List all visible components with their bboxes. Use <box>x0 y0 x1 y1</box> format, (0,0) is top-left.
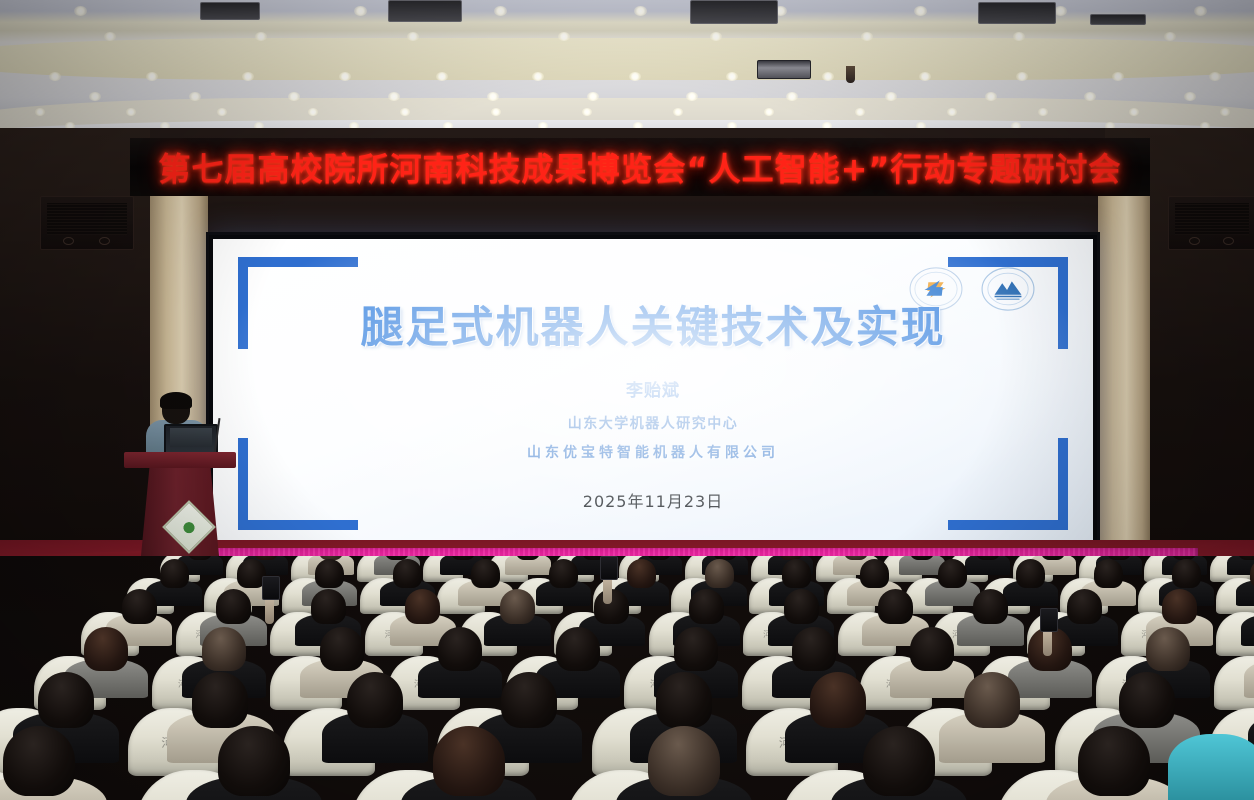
recessed-downlight-icon <box>1112 72 1124 81</box>
audience-member-head <box>705 559 734 588</box>
audience-member-head <box>863 726 935 796</box>
slide-content: 腿足式机器人关键技术及实现 李贻斌 山东大学机器人研究中心 山东优宝特智能机器人… <box>213 305 1093 512</box>
audience-member-head <box>1146 627 1190 671</box>
recessed-downlight-icon <box>1016 72 1028 81</box>
slide-org-primary: 山东大学机器人研究中心 <box>213 413 1093 433</box>
attendee-phone-icon <box>262 576 280 600</box>
recessed-downlight-icon <box>1184 92 1196 101</box>
audience-member-head <box>216 589 251 624</box>
audience-member-head <box>202 627 246 671</box>
audience-member-head <box>405 589 440 624</box>
slide-org-secondary: 山东优宝特智能机器人有限公司 <box>213 442 1093 462</box>
audience-member-head <box>500 589 535 624</box>
audience-member-head <box>784 589 819 624</box>
recessed-downlight-icon <box>673 108 683 116</box>
speaker-knob-a <box>1189 237 1200 245</box>
attendee-arm <box>603 576 612 604</box>
ceiling-vent-b <box>388 0 462 22</box>
recessed-downlight-icon <box>710 32 722 41</box>
recessed-downlight-icon <box>1194 6 1207 16</box>
slide-title: 腿足式机器人关键技术及实现 <box>213 305 1093 352</box>
audience-member-head <box>973 589 1008 624</box>
recessed-downlight-icon <box>35 108 45 116</box>
audience-member-head <box>433 726 505 796</box>
slide-author: 李贻斌 <box>213 376 1093 401</box>
ceiling <box>0 0 1254 140</box>
audience-area: 河南河南河南河南河南河南河南河南河南河南河南河南河南河南河南 <box>0 556 1254 800</box>
audience-member-head <box>810 672 866 728</box>
wall-speaker-right <box>1168 196 1254 250</box>
recessed-downlight-icon <box>491 108 501 116</box>
attendee-phone-icon <box>1040 608 1058 632</box>
ceiling-vent-c <box>690 0 778 24</box>
recessed-downlight-icon <box>388 92 400 101</box>
audience-member-head <box>1016 559 1045 588</box>
podium <box>124 452 236 564</box>
projection-screen: 腿足式机器人关键技术及实现 李贻斌 山东大学机器人研究中心 山东优宝特智能机器人… <box>206 232 1100 553</box>
speaker-grill-icon <box>1175 203 1249 235</box>
recessed-downlight-icon <box>764 108 774 116</box>
audience-member-head <box>627 559 656 588</box>
recessed-downlight-icon <box>400 108 410 116</box>
recessed-downlight-icon <box>914 6 927 16</box>
audience-member-head <box>648 726 720 796</box>
audience-member-head <box>315 559 344 588</box>
audience-member-head <box>311 589 346 624</box>
speaker-knob-b <box>1223 237 1234 245</box>
audience-member-head <box>1078 726 1150 796</box>
audience-member-head <box>1067 589 1102 624</box>
audience-member-shoulders <box>1168 734 1254 800</box>
audience-member-head <box>347 672 403 728</box>
attendee-arm <box>1043 628 1052 656</box>
auditorium-photo: 第七届高校院所河南科技成果博览会“人工智能+”行动专题研讨会 <box>0 0 1254 800</box>
recessed-downlight-icon <box>947 108 957 116</box>
audience-member-head <box>160 559 189 588</box>
pillar-right <box>1098 150 1150 560</box>
slide-date: 2025年11月23日 <box>213 488 1093 512</box>
audience-member-head <box>689 589 724 624</box>
event-banner-text: 第七届高校院所河南科技成果博览会“人工智能+”行动专题研讨会 <box>159 144 1122 190</box>
audience-member-head <box>1119 672 1175 728</box>
attendee-arm <box>265 596 274 624</box>
podium-top <box>124 452 236 468</box>
laptop-lid <box>164 424 218 454</box>
audience-member-head <box>938 559 967 588</box>
wall-speaker-left <box>40 196 134 250</box>
speaker-knob-a <box>63 237 74 245</box>
audience-member-head <box>878 589 913 624</box>
audience-member-head <box>556 627 600 671</box>
audience-member-head <box>792 627 836 671</box>
audience-member-head <box>656 672 712 728</box>
recessed-downlight-icon <box>582 108 592 116</box>
recessed-downlight-icon <box>146 72 158 81</box>
recessed-downlight-icon <box>634 6 647 16</box>
recessed-downlight-icon <box>89 92 101 101</box>
recessed-downlight-icon <box>1164 32 1176 41</box>
audience-member-head <box>471 559 500 588</box>
recessed-downlight-icon <box>587 92 599 101</box>
laptop-screen <box>170 428 212 447</box>
audience-member-head <box>910 627 954 671</box>
speaker-grill-icon <box>47 203 127 235</box>
recessed-downlight-icon <box>49 72 61 81</box>
audience-member-head <box>38 672 94 728</box>
recessed-downlight-icon <box>1038 108 1048 116</box>
audience-member-head <box>860 559 889 588</box>
air-vent-icon <box>757 60 811 79</box>
recessed-downlight-icon <box>354 6 367 16</box>
audience-member-head <box>320 627 364 671</box>
audience-member-head <box>674 627 718 671</box>
presenter-hair <box>160 392 192 409</box>
audience-member-head <box>1162 589 1197 624</box>
audience-member-head <box>218 726 290 796</box>
recessed-downlight-icon <box>189 92 201 101</box>
recessed-downlight-icon <box>726 72 738 81</box>
audience-member-head <box>3 726 75 796</box>
ceiling-vent-d <box>978 2 1056 24</box>
audience-member-head <box>192 672 248 728</box>
audience-member-head <box>393 559 422 588</box>
audience-member-head <box>501 672 557 728</box>
speaker-knob-b <box>99 237 110 245</box>
recessed-downlight-icon <box>1013 32 1025 41</box>
recessed-downlight-icon <box>1209 72 1221 81</box>
recessed-downlight-icon <box>74 6 87 16</box>
audience-member-head <box>84 627 128 671</box>
ceiling-vent-e <box>1090 14 1146 25</box>
recessed-downlight-icon <box>217 108 227 116</box>
audience-member-head <box>964 672 1020 728</box>
audience-member-head <box>438 627 482 671</box>
slide-surface: 腿足式机器人关键技术及实现 李贻斌 山东大学机器人研究中心 山东优宝特智能机器人… <box>213 239 1093 546</box>
event-banner: 第七届高校院所河南科技成果博览会“人工智能+”行动专题研讨会 <box>130 138 1150 196</box>
audience-member-head <box>782 559 811 588</box>
recessed-downlight-icon <box>1220 108 1230 116</box>
ceiling-cove-band <box>0 38 1254 80</box>
audience-member-head <box>1172 559 1201 588</box>
recessed-downlight-icon <box>436 72 448 81</box>
presenter-laptop <box>162 424 216 454</box>
ceiling-projector-icon <box>846 66 855 83</box>
audience-member-head <box>122 589 157 624</box>
audience-member-head <box>549 559 578 588</box>
audience-member-head <box>1094 559 1123 588</box>
recessed-downlight-icon <box>1129 108 1139 116</box>
ceiling-vent-a <box>200 2 260 20</box>
attendee-phone-icon <box>600 556 618 580</box>
recessed-downlight-icon <box>494 6 507 16</box>
recessed-downlight-icon <box>126 108 136 116</box>
